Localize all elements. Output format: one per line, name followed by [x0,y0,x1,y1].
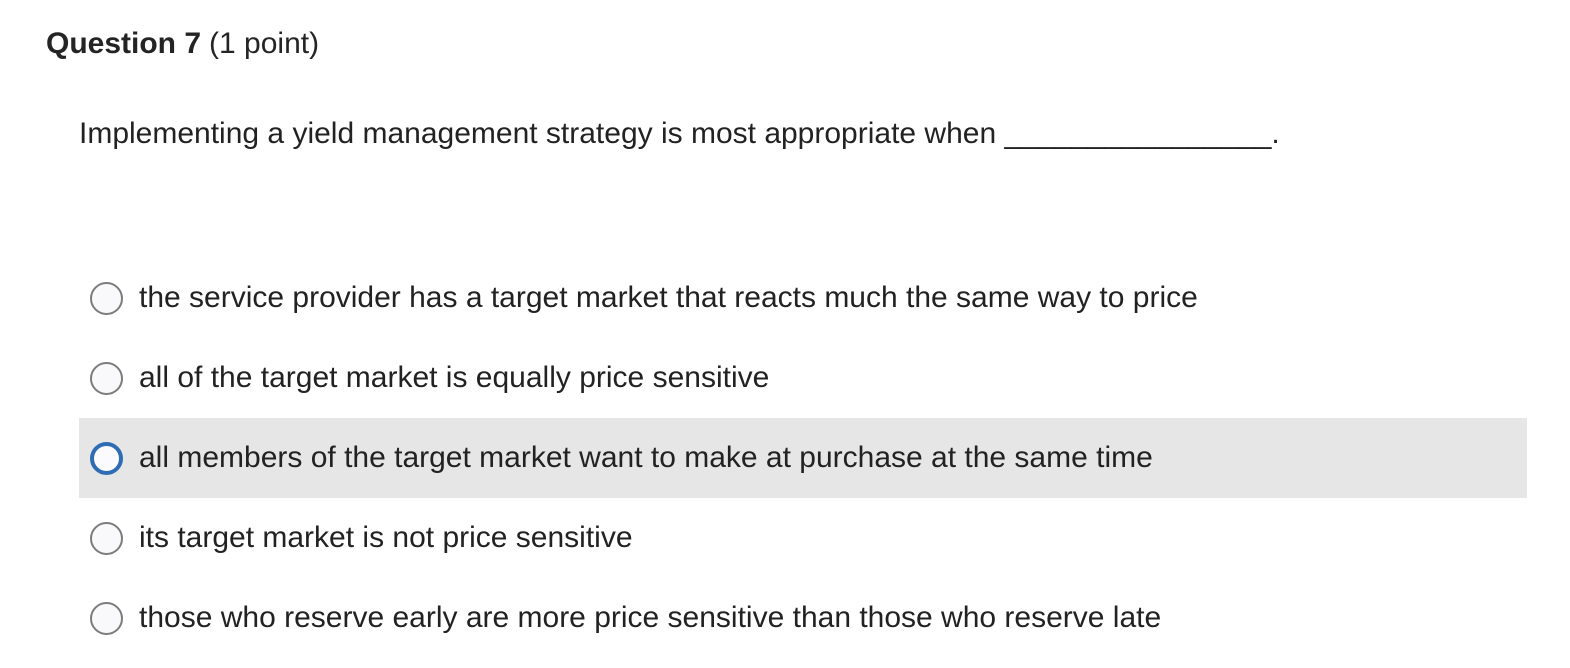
question-number-label: Question 7 [46,27,201,60]
answer-option-4[interactable]: its target market is not price sensitive [79,498,1527,578]
radio-button-icon-1[interactable] [90,282,123,315]
answer-option-label-3: all members of the target market want to… [139,441,1153,475]
answer-option-label-2: all of the target market is equally pric… [139,361,769,395]
answer-options-list: the service provider has a target market… [79,258,1527,658]
question-header: Question 7(1 point) [46,25,319,63]
answer-option-label-1: the service provider has a target market… [139,281,1198,315]
answer-option-label-5: those who reserve early are more price s… [139,601,1161,635]
answer-option-2[interactable]: all of the target market is equally pric… [79,338,1527,418]
radio-button-icon-2[interactable] [90,362,123,395]
question-prompt-text: Implementing a yield management strategy… [79,103,1329,165]
answer-option-3[interactable]: all members of the target market want to… [79,418,1527,498]
answer-option-5[interactable]: those who reserve early are more price s… [79,578,1527,658]
radio-button-icon-3[interactable] [90,442,123,475]
answer-option-1[interactable]: the service provider has a target market… [79,258,1527,338]
answer-option-label-4: its target market is not price sensitive [139,521,633,555]
radio-button-icon-5[interactable] [90,602,123,635]
question-points-label: (1 point) [209,27,319,60]
radio-button-icon-4[interactable] [90,522,123,555]
